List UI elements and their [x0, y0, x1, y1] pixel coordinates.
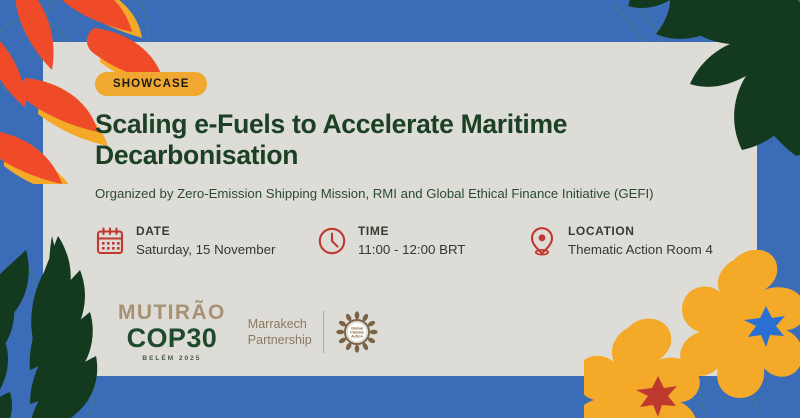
detail-value-time: 11:00 - 12:00 BRT — [358, 241, 465, 259]
logo-divider — [323, 311, 324, 353]
detail-label-time: TIME — [358, 225, 465, 239]
cop30-logo: MUTIRÃO COP30 BELÉM 2025 — [118, 302, 226, 363]
partner-name-line1: Marrakech — [248, 316, 312, 333]
partner-name-line2: Partnership — [248, 332, 312, 349]
detail-value-date: Saturday, 15 November — [136, 241, 275, 259]
detail-value-location: Thematic Action Room 4 — [568, 241, 713, 259]
clock-icon — [317, 226, 347, 256]
cop30-logo-mutirao: MUTIRÃO — [118, 302, 226, 323]
event-details-row: DATE Saturday, 15 November TIME 11:00 - … — [95, 225, 755, 259]
detail-label-location: LOCATION — [568, 225, 713, 239]
cop30-logo-cop30: COP30 — [118, 325, 226, 352]
cop30-logo-belem: BELÉM 2025 — [118, 356, 226, 363]
partner-name: Marrakech Partnership — [248, 316, 312, 349]
location-pin-icon — [527, 226, 557, 256]
calendar-icon — [95, 226, 125, 256]
event-banner: SHOWCASE Scaling e-Fuels to Accelerate M… — [0, 0, 800, 418]
global-climate-action-emblem-icon: Global Climate Action — [335, 310, 379, 354]
detail-location: LOCATION Thematic Action Room 4 — [527, 225, 713, 259]
detail-label-date: DATE — [136, 225, 275, 239]
detail-time: TIME 11:00 - 12:00 BRT — [317, 225, 527, 259]
showcase-badge: SHOWCASE — [95, 72, 207, 96]
event-title: Scaling e-Fuels to Accelerate Maritime D… — [95, 109, 695, 171]
emblem-text-line3: Action — [351, 335, 363, 339]
marrakech-partnership-logo: Marrakech Partnership — [248, 310, 379, 354]
logo-lockup: MUTIRÃO COP30 BELÉM 2025 Marrakech Partn… — [118, 302, 379, 363]
card-content: SHOWCASE Scaling e-Fuels to Accelerate M… — [95, 72, 755, 259]
detail-date: DATE Saturday, 15 November — [95, 225, 317, 259]
event-organizers: Organized by Zero-Emission Shipping Miss… — [95, 185, 755, 203]
